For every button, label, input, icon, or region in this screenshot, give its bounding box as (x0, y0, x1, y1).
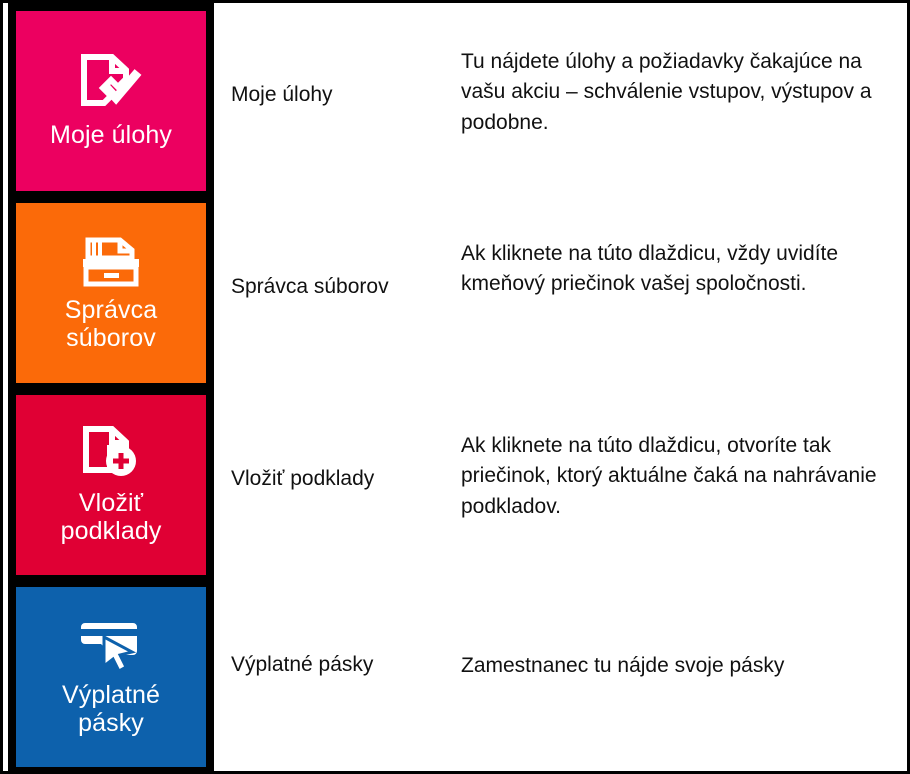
table-row: Moje úlohy Moje úlohy Tu nájdete úlohy a… (3, 3, 907, 195)
tile-caption: Vložiť podklady (55, 489, 168, 546)
row-label-moje-ulohy: Moje úlohy (231, 81, 446, 108)
file-cabinet-icon (78, 234, 144, 290)
tile-vlozit-podklady[interactable]: Vložiť podklady (16, 395, 206, 575)
tile-caption: Správca súborov (59, 296, 163, 353)
tile-moje-ulohy[interactable]: Moje úlohy (16, 11, 206, 191)
tile-rows: Moje úlohy Moje úlohy Tu nájdete úlohy a… (3, 3, 907, 771)
row-description-moje-ulohy: Tu nájdete úlohy a požiadavky čakajúce n… (461, 47, 891, 138)
row-label-spravca-suborov: Správca súborov (231, 273, 446, 300)
tile-caption: Výplatné pásky (56, 681, 166, 738)
table-row: Správca súborov Správca súborov Ak klikn… (3, 195, 907, 387)
document-plus-icon (80, 425, 142, 483)
table-row: Vložiť podklady Vložiť podklady Ak klikn… (3, 387, 907, 579)
row-label-vyplatne-pasky: Výplatné pásky (231, 651, 446, 678)
tile-spravca-suborov[interactable]: Správca súborov (16, 203, 206, 383)
tile-caption: Moje úlohy (44, 121, 178, 150)
row-description-vlozit-podklady: Ak kliknete na túto dlaždicu, otvoríte t… (461, 431, 891, 522)
document-check-icon (78, 53, 144, 115)
tile-vyplatne-pasky[interactable]: Výplatné pásky (16, 587, 206, 767)
table-row: Výplatné pásky Výplatné pásky Zamestnane… (3, 579, 907, 771)
row-label-vlozit-podklady: Vložiť podklady (231, 465, 446, 492)
figure-frame: Moje úlohy Moje úlohy Tu nájdete úlohy a… (0, 0, 910, 774)
row-description-spravca-suborov: Ak kliknete na túto dlaždicu, vždy uvidí… (461, 239, 891, 300)
card-cursor-icon (79, 617, 143, 675)
row-description-vyplatne-pasky: Zamestnanec tu nájde svoje pásky (461, 651, 891, 681)
